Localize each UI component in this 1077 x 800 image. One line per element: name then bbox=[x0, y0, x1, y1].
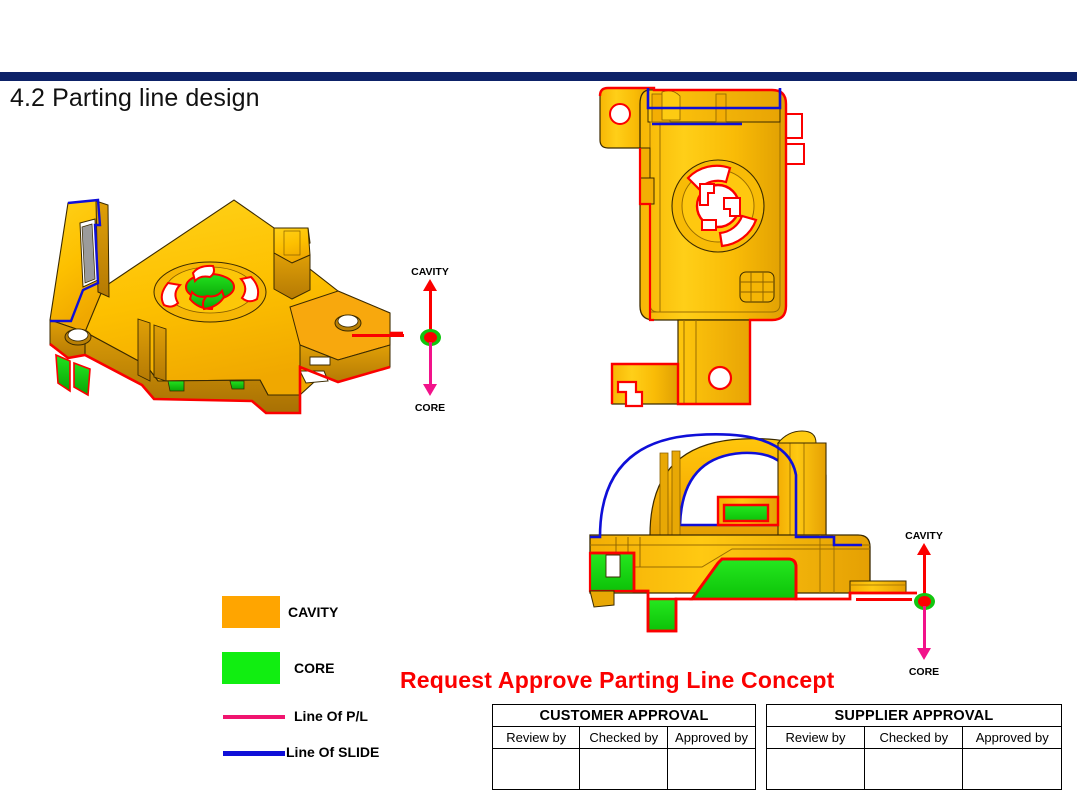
iso-view-indicator: CAVITY CORE bbox=[388, 266, 472, 414]
core-arrow-stem bbox=[429, 342, 432, 386]
green-swatch-icon bbox=[222, 652, 280, 684]
orange-swatch-icon bbox=[222, 596, 280, 628]
side-view-indicator: CAVITY CORE bbox=[882, 530, 966, 678]
pink-line-icon bbox=[223, 715, 285, 719]
slide-canvas: 4.2 Parting line design bbox=[0, 0, 1077, 800]
header-accent-bar bbox=[0, 72, 1077, 81]
table-row bbox=[493, 749, 756, 790]
supplier-approval-table: SUPPLIER APPROVAL Review by Checked by A… bbox=[766, 704, 1062, 790]
legend-label-core: CORE bbox=[294, 660, 334, 676]
customer-signature-checked-by[interactable] bbox=[580, 749, 668, 790]
isometric-part-view bbox=[38, 195, 403, 425]
legend-label-parting-line: Line Of P/L bbox=[294, 708, 368, 724]
legend-label-cavity: CAVITY bbox=[288, 604, 338, 620]
plan-part-view bbox=[592, 86, 810, 416]
blue-line-icon bbox=[223, 751, 285, 756]
supplier-col-checked-by: Checked by bbox=[865, 727, 963, 749]
table-row bbox=[767, 749, 1062, 790]
core-arrow-head-icon bbox=[423, 384, 437, 396]
core-direction-label: CORE bbox=[882, 666, 966, 678]
customer-col-review-by: Review by bbox=[493, 727, 580, 749]
cavity-direction-label: CAVITY bbox=[388, 266, 472, 278]
table-row: SUPPLIER APPROVAL bbox=[767, 705, 1062, 727]
side-part-view bbox=[572, 425, 917, 655]
supplier-signature-review-by[interactable] bbox=[767, 749, 865, 790]
cavity-direction-label: CAVITY bbox=[882, 530, 966, 542]
table-row: Review by Checked by Approved by bbox=[767, 727, 1062, 749]
table-row: Review by Checked by Approved by bbox=[493, 727, 756, 749]
core-arrow-stem bbox=[923, 606, 926, 650]
customer-approval-table: CUSTOMER APPROVAL Review by Checked by A… bbox=[492, 704, 756, 790]
supplier-signature-checked-by[interactable] bbox=[865, 749, 963, 790]
supplier-signature-approved-by[interactable] bbox=[963, 749, 1062, 790]
customer-signature-review-by[interactable] bbox=[493, 749, 580, 790]
supplier-col-approved-by: Approved by bbox=[963, 727, 1062, 749]
customer-approval-title: CUSTOMER APPROVAL bbox=[493, 705, 756, 727]
core-direction-label: CORE bbox=[388, 402, 472, 414]
supplier-approval-title: SUPPLIER APPROVAL bbox=[767, 705, 1062, 727]
customer-signature-approved-by[interactable] bbox=[668, 749, 756, 790]
table-row: CUSTOMER APPROVAL bbox=[493, 705, 756, 727]
supplier-col-review-by: Review by bbox=[767, 727, 865, 749]
request-banner: Request Approve Parting Line Concept bbox=[400, 667, 834, 694]
page-title: 4.2 Parting line design bbox=[10, 84, 260, 113]
core-arrow-head-icon bbox=[917, 648, 931, 660]
customer-col-checked-by: Checked by bbox=[580, 727, 668, 749]
customer-col-approved-by: Approved by bbox=[668, 727, 756, 749]
